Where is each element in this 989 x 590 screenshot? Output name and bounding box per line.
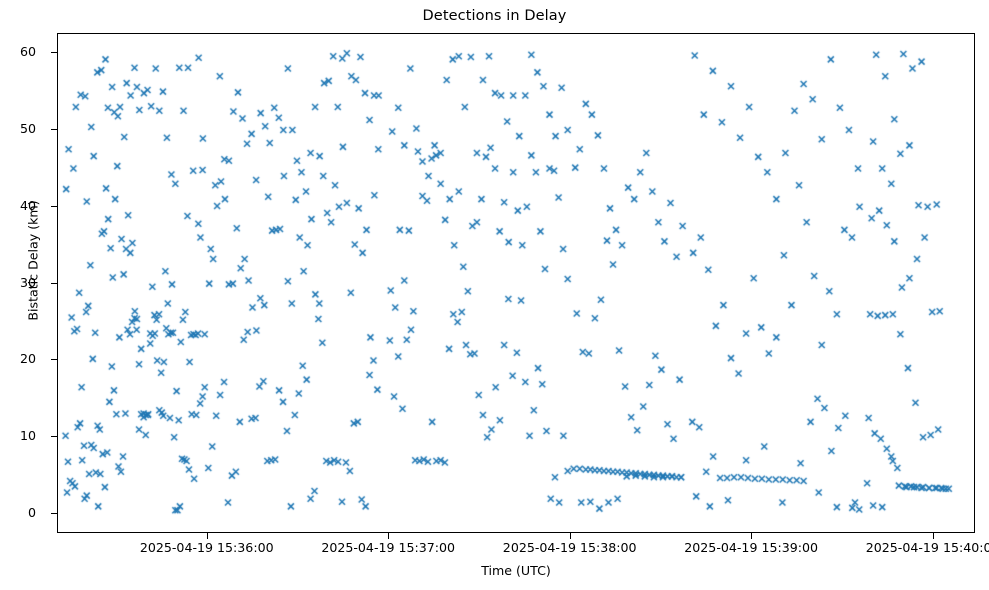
- x-tick-mark: [570, 533, 571, 539]
- y-tick-mark: [51, 359, 57, 360]
- matplotlib-figure: Detections in Delay 0102030405060 2025-0…: [0, 0, 989, 590]
- scatter-canvas: [58, 34, 975, 533]
- x-tick-mark: [388, 533, 389, 539]
- x-tick-label: 2025-04-19 15:39:00: [684, 540, 818, 555]
- x-tick-label: 2025-04-19 15:37:00: [321, 540, 455, 555]
- y-tick-label: 10: [20, 428, 36, 443]
- plot-area: [57, 33, 975, 533]
- y-tick-mark: [51, 129, 57, 130]
- y-tick-label: 60: [20, 44, 36, 59]
- page-title: Detections in Delay: [0, 8, 989, 24]
- x-tick-label: 2025-04-19 15:40:00: [866, 540, 989, 555]
- x-tick-label: 2025-04-19 15:36:00: [140, 540, 274, 555]
- y-tick-label: 0: [28, 505, 36, 520]
- y-tick-mark: [51, 513, 57, 514]
- y-tick-mark: [51, 52, 57, 53]
- x-axis-label: Time (UTC): [57, 563, 975, 578]
- y-tick-mark: [51, 206, 57, 207]
- y-axis-label: Bistatic Delay (km): [26, 121, 41, 401]
- y-tick-mark: [51, 283, 57, 284]
- x-tick-mark: [751, 533, 752, 539]
- x-tick-label: 2025-04-19 15:38:00: [503, 540, 637, 555]
- x-tick-mark: [933, 533, 934, 539]
- x-tick-mark: [207, 533, 208, 539]
- y-tick-mark: [51, 436, 57, 437]
